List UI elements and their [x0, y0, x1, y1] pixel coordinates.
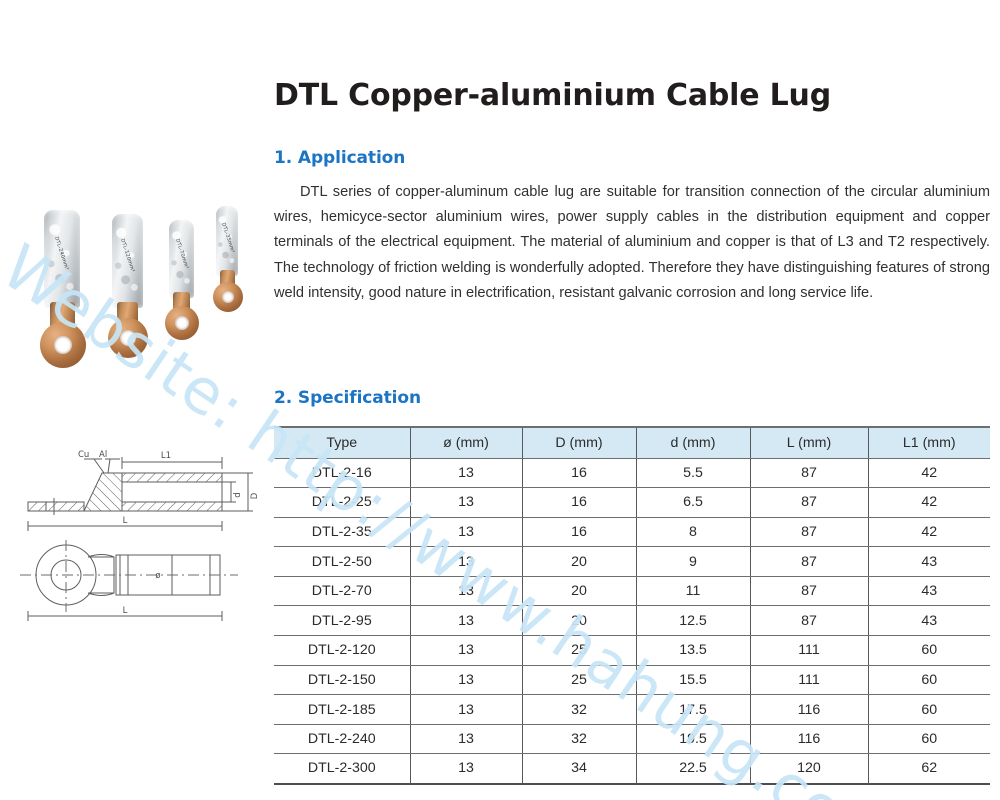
table-cell: 9	[636, 547, 750, 577]
table-row: DTL-2-240133219.511660	[274, 724, 990, 754]
specification-table-wrapper: Typeø (mm)D (mm)d (mm)L (mm)L1 (mm) DTL-…	[274, 426, 990, 785]
specification-table: Typeø (mm)D (mm)d (mm)L (mm)L1 (mm) DTL-…	[274, 426, 990, 785]
table-cell: 13	[410, 695, 522, 725]
table-cell: 87	[750, 517, 868, 547]
table-cell: 6.5	[636, 488, 750, 518]
drawing-label-d-inner: d	[233, 492, 243, 497]
table-cell: 87	[750, 458, 868, 488]
table-cell: 34	[522, 754, 636, 784]
table-cell: 11	[636, 576, 750, 606]
table-cell: 19.5	[636, 724, 750, 754]
table-cell: 13	[410, 488, 522, 518]
table-cell: 16	[522, 488, 636, 518]
table-cell-type: DTL-2-50	[274, 547, 410, 577]
application-paragraph: DTL series of copper-aluminum cable lug …	[274, 180, 990, 306]
table-cell: 13	[410, 754, 522, 784]
table-cell: 13	[410, 665, 522, 695]
table-cell: 13	[410, 636, 522, 666]
table-cell-type: DTL-2-240	[274, 724, 410, 754]
table-cell: 22.5	[636, 754, 750, 784]
section-heading-application: 1. Application	[274, 148, 405, 168]
table-cell: 20	[522, 606, 636, 636]
table-cell: 60	[868, 636, 990, 666]
table-row: DTL-2-35131688742	[274, 517, 990, 547]
table-cell: 17.5	[636, 695, 750, 725]
table-cell: 32	[522, 724, 636, 754]
table-cell: 60	[868, 665, 990, 695]
product-datasheet-page: Website: http://www.hahung.com.vn DTL-24…	[0, 0, 1000, 800]
content-column: DTL Copper-aluminium Cable Lug 1. Applic…	[274, 0, 990, 800]
table-cell: 25	[522, 665, 636, 695]
table-header-row: Typeø (mm)D (mm)d (mm)L (mm)L1 (mm)	[274, 427, 990, 458]
lug-bolt-hole	[120, 330, 136, 346]
table-cell: 116	[750, 724, 868, 754]
table-row: DTL-2-1613165.58742	[274, 458, 990, 488]
table-cell: 62	[868, 754, 990, 784]
table-cell-type: DTL-2-35	[274, 517, 410, 547]
table-cell: 25	[522, 636, 636, 666]
drawing-label-d-outer: D	[250, 492, 260, 499]
technical-drawing: Cu Al L1 L L D d ø	[10, 440, 278, 630]
table-cell: 20	[522, 576, 636, 606]
table-cell: 8	[636, 517, 750, 547]
section-number-2: 2.	[274, 388, 292, 408]
table-row: DTL-2-300133422.512062	[274, 754, 990, 784]
table-cell: 43	[868, 576, 990, 606]
table-cell: 16	[522, 458, 636, 488]
table-cell: 87	[750, 547, 868, 577]
table-cell: 87	[750, 576, 868, 606]
drawing-label-l1: L1	[161, 451, 171, 461]
table-row: DTL-2-50132098743	[274, 547, 990, 577]
table-row: DTL-2-120132513.511160	[274, 636, 990, 666]
table-column-header-4: L (mm)	[750, 427, 868, 458]
lug-bolt-hole	[175, 316, 189, 330]
table-cell: 60	[868, 695, 990, 725]
table-cell: 120	[750, 754, 868, 784]
section-label-application: Application	[298, 148, 405, 168]
section-number-1: 1.	[274, 148, 292, 168]
table-cell: 42	[868, 517, 990, 547]
table-cell: 13	[410, 458, 522, 488]
table-row: DTL-2-2513166.58742	[274, 488, 990, 518]
table-cell: 60	[868, 724, 990, 754]
table-cell: 32	[522, 695, 636, 725]
table-cell: 13	[410, 606, 522, 636]
table-cell-type: DTL-2-25	[274, 488, 410, 518]
table-cell-type: DTL-2-120	[274, 636, 410, 666]
table-column-header-1: ø (mm)	[410, 427, 522, 458]
table-row: DTL-2-95132012.58743	[274, 606, 990, 636]
table-column-header-5: L1 (mm)	[868, 427, 990, 458]
table-cell: 13	[410, 576, 522, 606]
drawing-label-l-bottom: L	[123, 606, 128, 616]
table-cell: 111	[750, 665, 868, 695]
section-heading-specification: 2. Specification	[274, 388, 421, 408]
table-cell: 13	[410, 724, 522, 754]
lug-bolt-hole	[222, 291, 234, 303]
table-cell: 16	[522, 517, 636, 547]
drawing-label-phi: ø	[155, 571, 160, 581]
drawing-label-al: Al	[99, 450, 107, 460]
table-cell: 12.5	[636, 606, 750, 636]
table-row: DTL-2-185133217.511660	[274, 695, 990, 725]
table-cell: 42	[868, 488, 990, 518]
table-cell: 13	[410, 547, 522, 577]
drawing-label-l-top: L	[123, 516, 128, 526]
table-cell: 111	[750, 636, 868, 666]
section-label-specification: Specification	[298, 388, 421, 408]
table-cell-type: DTL-2-300	[274, 754, 410, 784]
table-cell: 116	[750, 695, 868, 725]
table-cell-type: DTL-2-185	[274, 695, 410, 725]
table-cell-type: DTL-2-70	[274, 576, 410, 606]
table-column-header-2: D (mm)	[522, 427, 636, 458]
page-title: DTL Copper-aluminium Cable Lug	[274, 78, 831, 113]
table-cell-type: DTL-2-95	[274, 606, 410, 636]
table-cell: 5.5	[636, 458, 750, 488]
table-cell: 13	[410, 517, 522, 547]
table-cell: 15.5	[636, 665, 750, 695]
table-cell: 87	[750, 488, 868, 518]
table-head: Typeø (mm)D (mm)d (mm)L (mm)L1 (mm)	[274, 427, 990, 458]
table-cell: 87	[750, 606, 868, 636]
drawing-label-cu: Cu	[78, 450, 89, 460]
table-cell: 20	[522, 547, 636, 577]
table-cell: 42	[868, 458, 990, 488]
table-cell: 13.5	[636, 636, 750, 666]
table-row: DTL-2-701320118743	[274, 576, 990, 606]
lug-bolt-hole	[54, 336, 72, 354]
table-column-header-0: Type	[274, 427, 410, 458]
table-body: DTL-2-1613165.58742DTL-2-2513166.58742DT…	[274, 458, 990, 784]
table-column-header-3: d (mm)	[636, 427, 750, 458]
product-photo: DTL-240mm² DTL-120mm² DTL-70mm² DTL-35mm…	[22, 196, 274, 396]
technical-drawing-svg: Cu Al L1 L L D d ø	[10, 440, 278, 630]
table-cell: 43	[868, 547, 990, 577]
table-cell: 43	[868, 606, 990, 636]
table-row: DTL-2-150132515.511160	[274, 665, 990, 695]
table-cell-type: DTL-2-150	[274, 665, 410, 695]
table-cell-type: DTL-2-16	[274, 458, 410, 488]
